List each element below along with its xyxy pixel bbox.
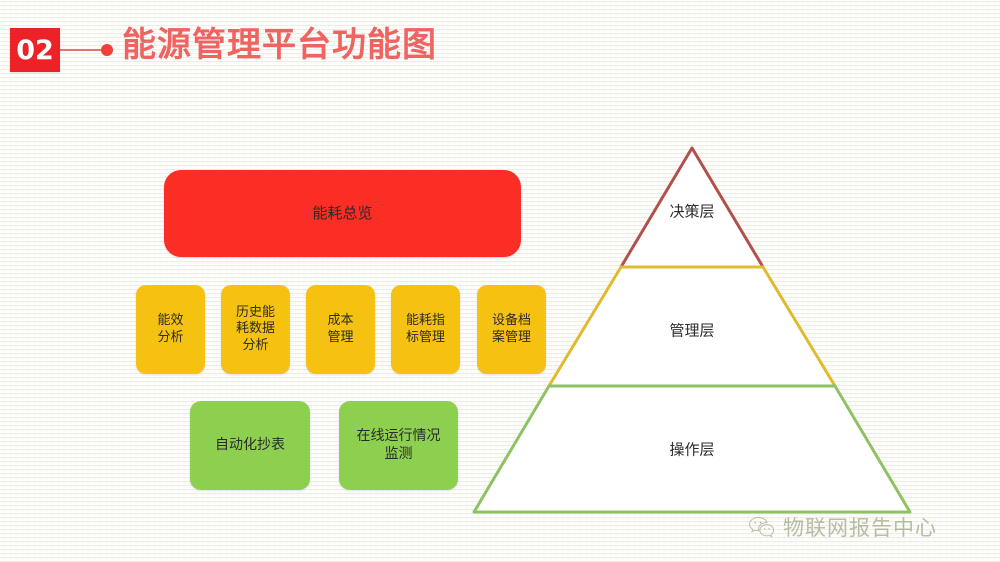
watermark-text: 物联网报告中心 (783, 512, 937, 542)
function-box-online-operation-monitoring[interactable]: 在线运行情况 监测 (339, 401, 458, 490)
function-box-cost-management[interactable]: 成本 管理 (306, 285, 375, 374)
slide-header: 02 能源管理平台功能图 (0, 0, 1000, 96)
slide-canvas: 02 能源管理平台功能图 能耗总览 能效 分析 历史能 耗数据 分析 成本 管理… (0, 0, 1000, 562)
section-number-badge: 02 (10, 28, 60, 72)
function-box-label: 历史能 耗数据 分析 (236, 305, 275, 355)
wechat-icon (748, 515, 776, 539)
pyramid-label-operation: 操作层 (669, 439, 714, 460)
page-title: 能源管理平台功能图 (122, 23, 437, 67)
function-box-label: 在线运行情况 监测 (357, 428, 441, 464)
badge-connector-line (60, 49, 105, 51)
function-box-energy-efficiency-analysis[interactable]: 能效 分析 (136, 285, 205, 374)
pyramid-label-management: 管理层 (669, 320, 714, 341)
layer-pyramid-diagram: 决策层 管理层 操作层 (450, 130, 950, 530)
function-box-label: 成本 管理 (327, 313, 353, 346)
function-box-label: 能耗指 标管理 (406, 313, 445, 346)
function-box-automatic-meter-reading[interactable]: 自动化抄表 (190, 401, 310, 490)
pyramid-label-decision: 决策层 (669, 201, 714, 222)
watermark: 物联网报告中心 (748, 512, 937, 542)
section-number-text: 02 (16, 37, 54, 64)
function-box-label: 能效 分析 (157, 313, 183, 346)
function-box-label: 自动化抄表 (215, 437, 285, 455)
function-box-historical-energy-data-analysis[interactable]: 历史能 耗数据 分析 (221, 285, 290, 374)
function-box-label: 能耗总览 (312, 204, 372, 223)
badge-connector-dot-icon (101, 44, 113, 56)
